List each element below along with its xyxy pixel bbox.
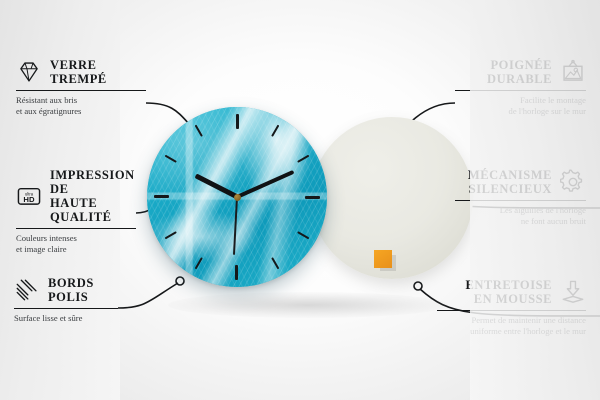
polished-edges-icon [14, 277, 40, 303]
feature-title-line1: ENTRETOISE [465, 278, 552, 292]
feature-head: BORDS POLIS [14, 276, 118, 304]
foam-spacer [374, 250, 392, 268]
feature-rule [455, 200, 586, 201]
feature-desc: Couleurs intenses et image claire [16, 233, 136, 254]
feature-title: POIGNÉE DURABLE [487, 58, 552, 86]
svg-text:HD: HD [23, 195, 35, 204]
diamond-icon [16, 59, 42, 85]
hands-center-cap [234, 194, 241, 201]
feature-entretoise-en-mousse: ENTRETOISE EN MOUSSE Permet de maintenir… [437, 278, 586, 336]
foam-spacer-icon [560, 279, 586, 305]
feature-title-line2: POLIS [48, 290, 94, 304]
feature-bords-polis: BORDS POLIS Surface lisse et sûre [14, 276, 118, 324]
feature-rule [455, 90, 586, 91]
feature-mecanisme-silencieux: MÉCANISME SILENCIEUX Les aiguilles de l'… [455, 168, 586, 226]
product-shadow [168, 292, 448, 318]
feature-title-line1: BORDS [48, 276, 94, 290]
feature-desc-line2: de l'horloge sur le mur [455, 106, 586, 117]
infographic-canvas: VERRE TREMPÉ Résistant aux bris et aux é… [0, 0, 600, 400]
feature-title-line1: IMPRESSION DE [50, 168, 136, 196]
feature-head: MÉCANISME SILENCIEUX [455, 168, 586, 196]
feature-desc-line2: uniforme entre l'horloge et le mur [437, 326, 586, 337]
feature-desc-line2: ne font aucun bruit [455, 216, 586, 227]
feature-desc-line2: et aux égratignures [16, 106, 146, 117]
wall-clock-front [147, 107, 327, 287]
feature-title-line1: POIGNÉE [487, 58, 552, 72]
clock-back-view [311, 117, 473, 279]
feature-title-line2: SILENCIEUX [468, 182, 552, 196]
feature-title-line2: TREMPÉ [50, 72, 107, 86]
feature-desc: Facilite le montage de l'horloge sur le … [455, 95, 586, 116]
feature-head: VERRE TREMPÉ [16, 58, 146, 86]
feature-desc-line1: Facilite le montage [455, 95, 586, 106]
feature-impression-haute-qualite: ultra HD IMPRESSION DE HAUTE QUALITÉ Cou… [16, 168, 136, 254]
feature-desc-line1: Résistant aux bris [16, 95, 146, 106]
feature-desc-line1: Surface lisse et sûre [14, 313, 118, 324]
feature-rule [16, 90, 146, 91]
feature-rule [14, 308, 118, 309]
feature-desc-line1: Les aiguilles de l'horloge [455, 205, 586, 216]
feature-title: BORDS POLIS [48, 276, 94, 304]
feature-title-line2: DURABLE [487, 72, 552, 86]
feature-title: ENTRETOISE EN MOUSSE [465, 278, 552, 306]
feature-rule [16, 228, 136, 229]
feature-title-line1: MÉCANISME [468, 168, 552, 182]
feature-title: MÉCANISME SILENCIEUX [468, 168, 552, 196]
feature-title: IMPRESSION DE HAUTE QUALITÉ [50, 168, 136, 224]
gear-icon [560, 169, 586, 195]
feature-desc-line2: et image claire [16, 244, 136, 255]
feature-desc: Permet de maintenir une distance uniform… [437, 315, 586, 336]
marker-entretoise [414, 282, 422, 290]
feature-poignee-durable: POIGNÉE DURABLE Facilite le montage de l… [455, 58, 586, 116]
feature-title-line1: VERRE [50, 58, 107, 72]
feature-desc: Surface lisse et sûre [14, 313, 118, 324]
hanging-frame-icon [560, 59, 586, 85]
ultra-hd-icon: ultra HD [16, 183, 42, 209]
feature-head: POIGNÉE DURABLE [455, 58, 586, 86]
feature-title-line2: HAUTE QUALITÉ [50, 196, 136, 224]
feature-desc: Les aiguilles de l'horloge ne font aucun… [455, 205, 586, 226]
feature-desc: Résistant aux bris et aux égratignures [16, 95, 146, 116]
feature-verre-trempe: VERRE TREMPÉ Résistant aux bris et aux é… [16, 58, 146, 116]
feature-title-line2: EN MOUSSE [465, 292, 552, 306]
feature-desc-line1: Couleurs intenses [16, 233, 136, 244]
feature-title: VERRE TREMPÉ [50, 58, 107, 86]
feature-rule [437, 310, 586, 311]
feature-desc-line1: Permet de maintenir une distance [437, 315, 586, 326]
feature-head: ultra HD IMPRESSION DE HAUTE QUALITÉ [16, 168, 136, 224]
feature-head: ENTRETOISE EN MOUSSE [437, 278, 586, 306]
